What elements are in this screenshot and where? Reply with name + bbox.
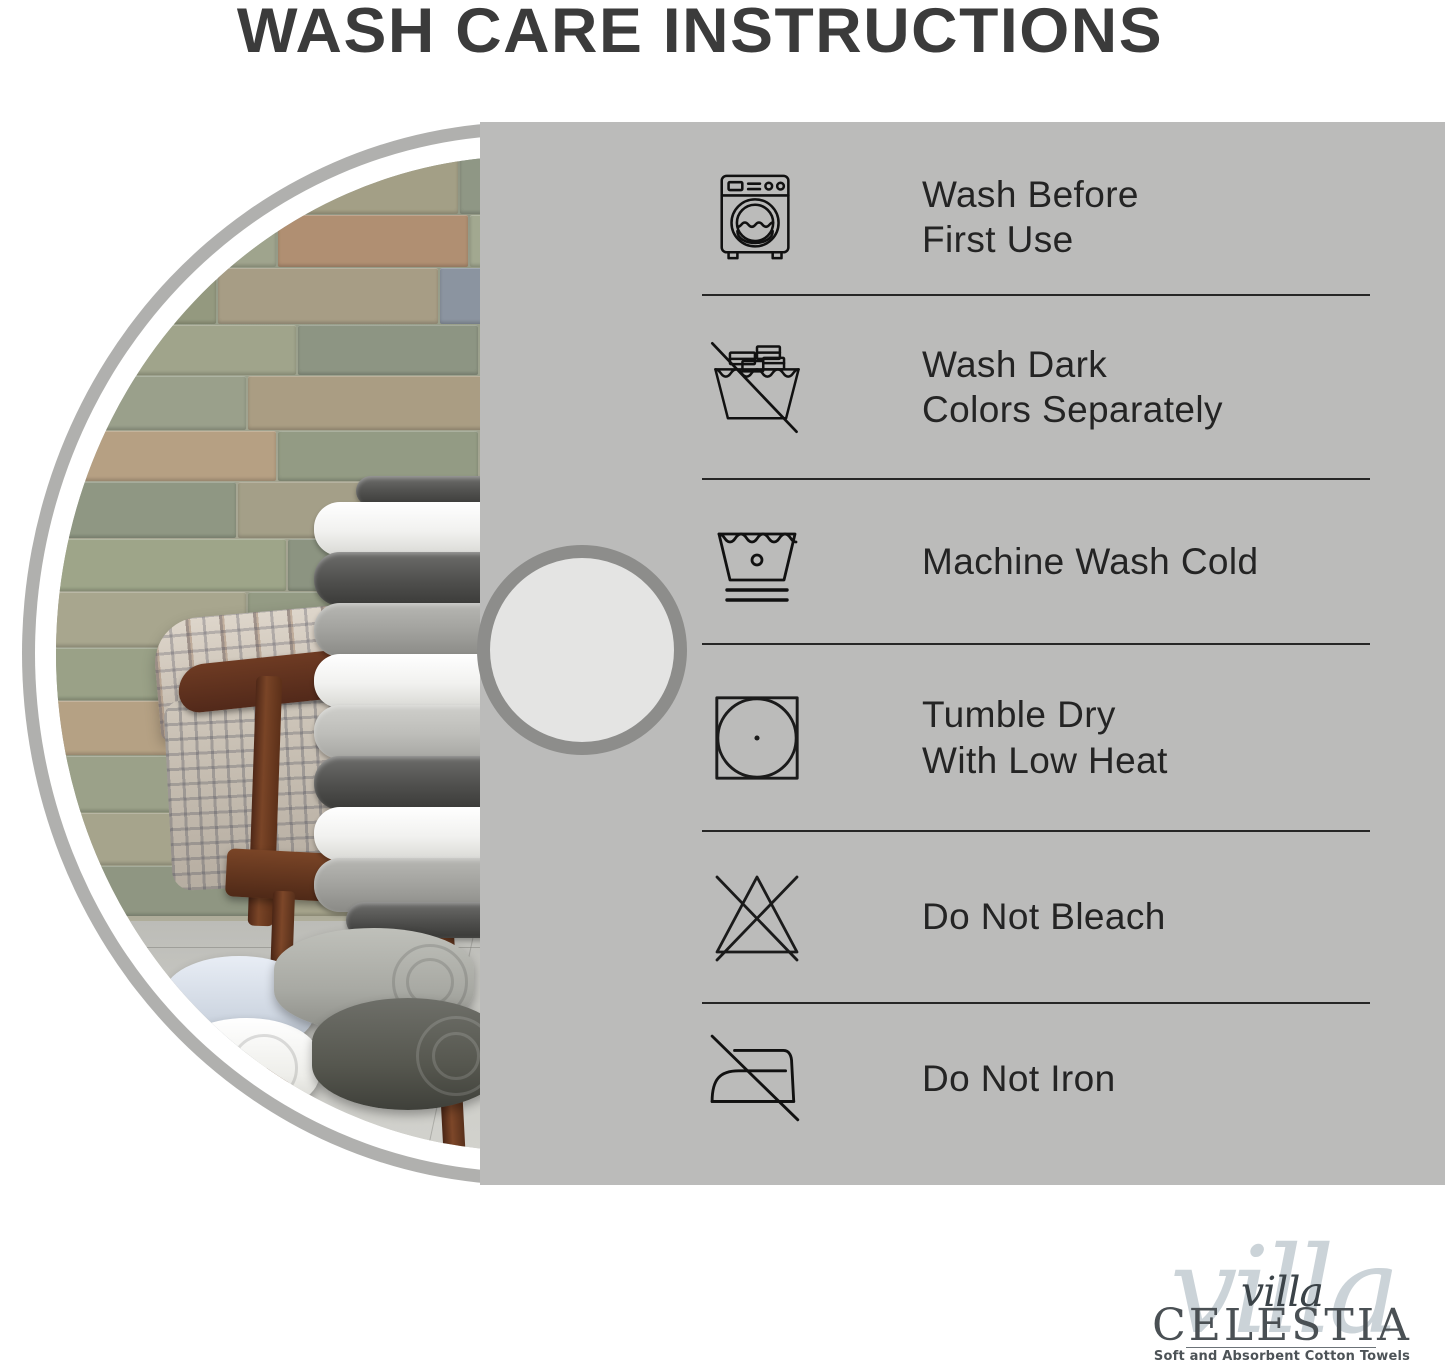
care-instruction-list: Wash Before First Use Wash Dark (702, 140, 1370, 1154)
rolled-towel-white (174, 1018, 319, 1114)
decorative-circle-overlay (477, 545, 687, 755)
care-row-machine-wash-cold: Machine Wash Cold (702, 480, 1370, 643)
stone (56, 215, 276, 267)
tumble-dry-low-icon (702, 683, 812, 793)
stone (278, 431, 478, 481)
rolled-towel-dark (312, 998, 504, 1110)
stone (56, 376, 246, 430)
stone (56, 539, 286, 591)
stone (56, 431, 276, 481)
stone (298, 325, 478, 375)
do-not-bleach-icon (702, 862, 812, 972)
care-row-wash-dark-colors-separately: Wash Dark Colors Separately (702, 296, 1370, 478)
towel-swirl (230, 1034, 298, 1102)
stone (56, 156, 226, 214)
logo-brand-name: CELESTIA (1132, 1304, 1432, 1348)
page-root: WASH CARE INSTRUCTIONS (0, 0, 1445, 1367)
care-row-do-not-bleach: Do Not Bleach (702, 832, 1370, 1002)
care-label: Machine Wash Cold (922, 539, 1259, 585)
logo-divider-rule (1186, 1347, 1376, 1348)
towel-swirl (432, 1032, 480, 1080)
washing-machine-icon (702, 162, 812, 272)
stone (56, 325, 296, 375)
stone (248, 376, 488, 430)
brand-logo: villa villa CELESTIA Soft and Absorbent … (1132, 1238, 1432, 1366)
care-label: Do Not Bleach (922, 894, 1166, 940)
care-row-do-not-iron: Do Not Iron (702, 1004, 1370, 1154)
stone (56, 268, 216, 324)
care-label: Wash Dark Colors Separately (922, 342, 1223, 433)
do-not-iron-icon (702, 1024, 812, 1134)
machine-wash-cold-icon (702, 507, 812, 617)
no-mixed-wash-icon (702, 332, 812, 442)
stone (56, 482, 236, 538)
stone (228, 156, 458, 214)
care-label: Do Not Iron (922, 1056, 1116, 1102)
logo-tagline: Soft and Absorbent Cotton Towels (1132, 1350, 1432, 1363)
care-label: Tumble Dry With Low Heat (922, 692, 1168, 783)
care-row-wash-before-first-use: Wash Before First Use (702, 140, 1370, 294)
page-title: WASH CARE INSTRUCTIONS (0, 0, 1414, 64)
stone (218, 268, 438, 324)
stone (278, 215, 468, 267)
care-row-tumble-dry-low-heat: Tumble Dry With Low Heat (702, 645, 1370, 830)
care-label: Wash Before First Use (922, 172, 1139, 263)
